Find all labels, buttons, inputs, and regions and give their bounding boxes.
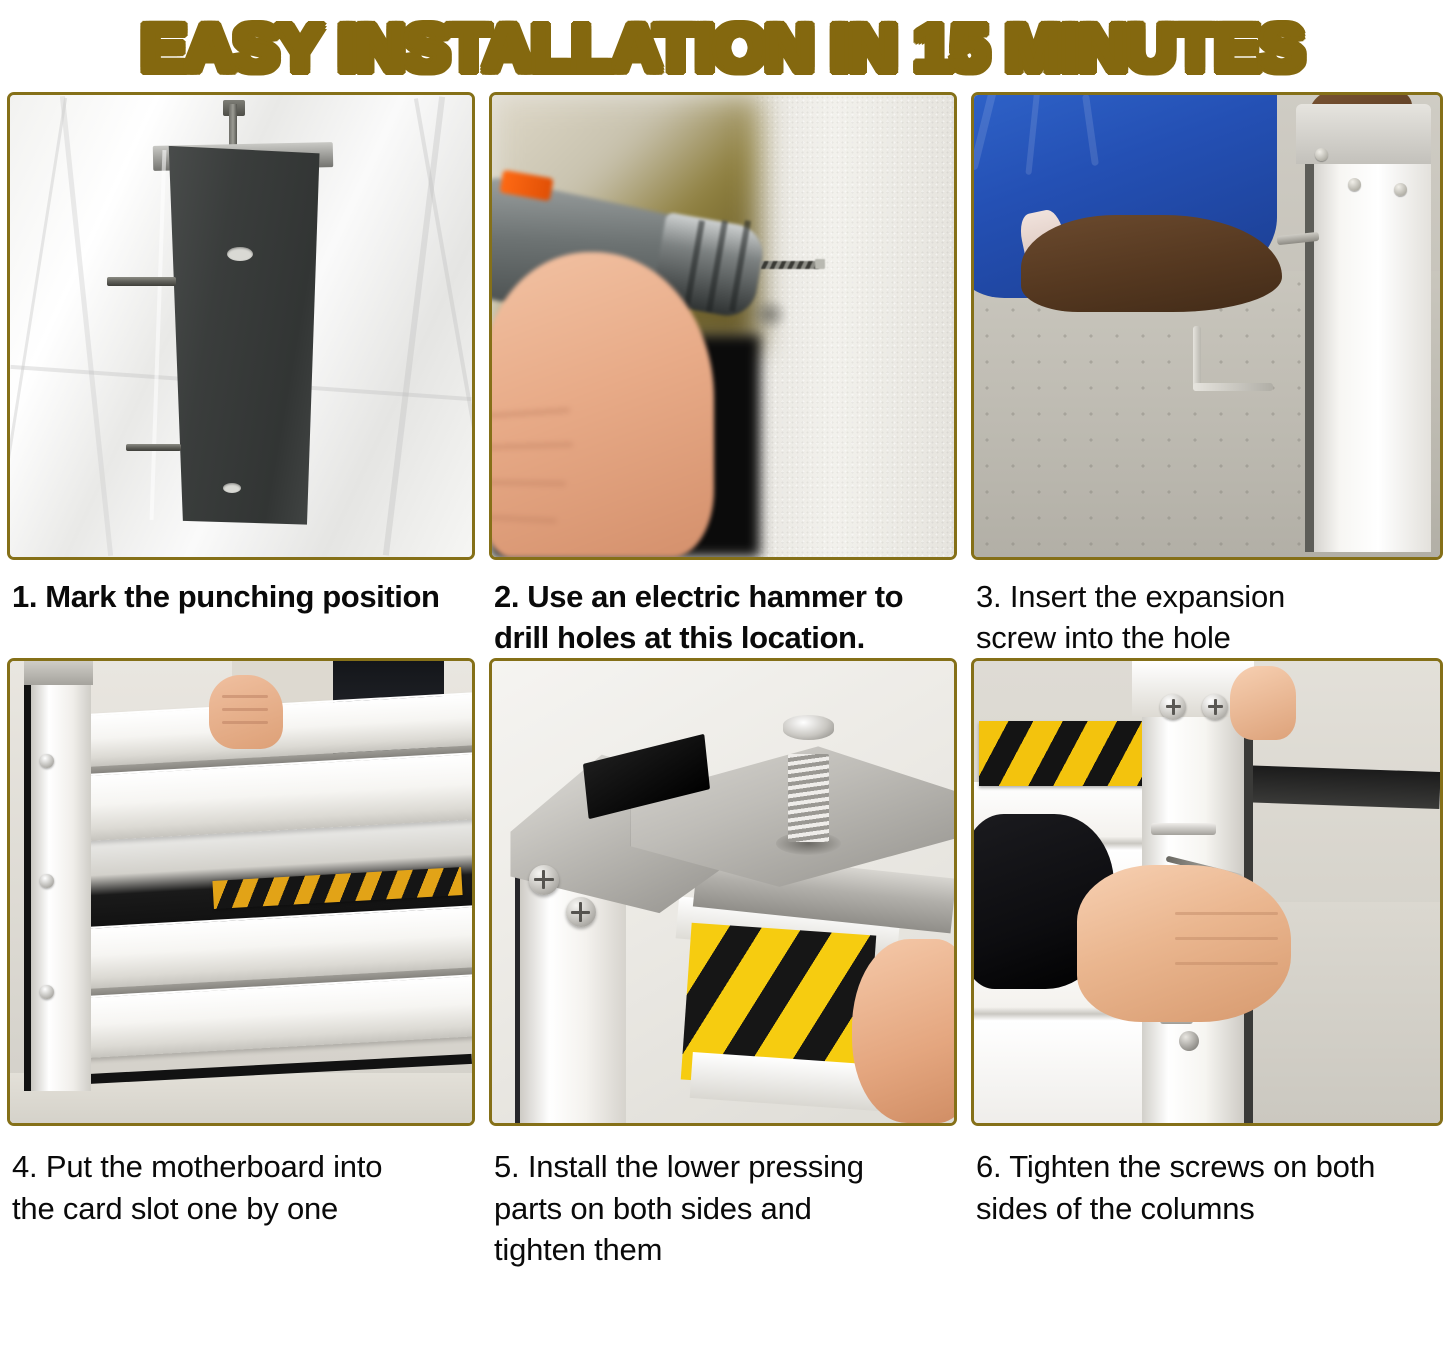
hand <box>1077 865 1291 1022</box>
step-4-caption: 4. Put the motherboard into the card slo… <box>2 1126 480 1228</box>
hand <box>852 939 954 1124</box>
bolt-upper <box>107 277 176 286</box>
mark-punching-position-photo <box>10 95 472 557</box>
hand <box>209 675 283 749</box>
tighten-column-screws-photo <box>974 661 1440 1123</box>
caption-line: tighten them <box>494 1229 954 1270</box>
page-title: EASY INSTALLATION IN 15 MINUTES <box>142 16 1304 80</box>
phillips-screw <box>1202 694 1228 720</box>
caption-line: 5. Install the lower pressing <box>494 1146 954 1187</box>
step-1-photo-frame <box>7 92 475 560</box>
hazard-stripe-tape <box>979 721 1147 786</box>
insert-expansion-screw-photo <box>974 95 1440 557</box>
step-1-caption: 1. Mark the punching position <box>2 560 480 617</box>
step-6-caption: 6. Tighten the screws on both sides of t… <box>966 1126 1445 1228</box>
step-4-photo-frame <box>7 658 475 1126</box>
drill-holes-photo <box>492 95 954 557</box>
caption-line: 3. Insert the expansion <box>976 576 1440 617</box>
knurled-bolt-head <box>783 715 834 740</box>
upper-hand <box>1230 666 1295 740</box>
screw-fitting <box>1151 823 1216 835</box>
mounting-column <box>162 146 319 525</box>
caption-line: parts on both sides and <box>494 1188 954 1229</box>
install-pressing-parts-photo <box>492 661 954 1123</box>
drill-bit <box>760 261 820 269</box>
header-banner: EASY INSTALLATION IN 15 MINUTES <box>0 0 1445 92</box>
hand <box>492 252 714 557</box>
bolt-lower <box>126 444 181 451</box>
caption-line: screw into the hole <box>976 617 1440 658</box>
step-card-1: 1. Mark the punching position <box>2 92 480 658</box>
phillips-screw <box>1160 694 1186 720</box>
caption-line: the card slot one by one <box>12 1188 472 1229</box>
installation-steps-grid: 1. Mark the punching position <box>0 92 1445 1270</box>
phillips-screw <box>566 897 596 927</box>
step-3-photo-frame <box>971 92 1443 560</box>
caption-line: 2. Use an electric hammer to <box>494 576 954 617</box>
step-2-photo-frame <box>489 92 957 560</box>
step-6-photo-frame <box>971 658 1443 1126</box>
step-3-caption: 3. Insert the expansion screw into the h… <box>966 560 1445 658</box>
step-5-caption: 5. Install the lower pressing parts on b… <box>484 1126 962 1270</box>
card-slot-column <box>24 661 91 1091</box>
step-card-6: 6. Tighten the screws on both sides of t… <box>966 658 1445 1270</box>
caption-line: 6. Tighten the screws on both <box>976 1146 1440 1187</box>
phillips-screw <box>529 865 559 895</box>
caption-line: sides of the columns <box>976 1188 1440 1229</box>
insert-boards-photo <box>10 661 472 1123</box>
caption-line: drill holes at this location. <box>494 617 954 658</box>
punch-hole-lower <box>223 483 241 493</box>
step-card-3: 3. Insert the expansion screw into the h… <box>966 92 1445 658</box>
step-card-4: 4. Put the motherboard into the card slo… <box>2 658 480 1270</box>
step-card-5: 5. Install the lower pressing parts on b… <box>484 658 962 1270</box>
aluminium-post <box>1305 109 1431 553</box>
caption-line: 1. Mark the punching position <box>12 576 472 617</box>
step-card-2: 2. Use an electric hammer to drill holes… <box>484 92 962 658</box>
allen-key <box>1193 326 1201 391</box>
caption-line: 4. Put the motherboard into <box>12 1146 472 1187</box>
step-5-photo-frame <box>489 658 957 1126</box>
step-2-caption: 2. Use an electric hammer to drill holes… <box>484 560 962 658</box>
bolt-thread <box>788 754 830 842</box>
